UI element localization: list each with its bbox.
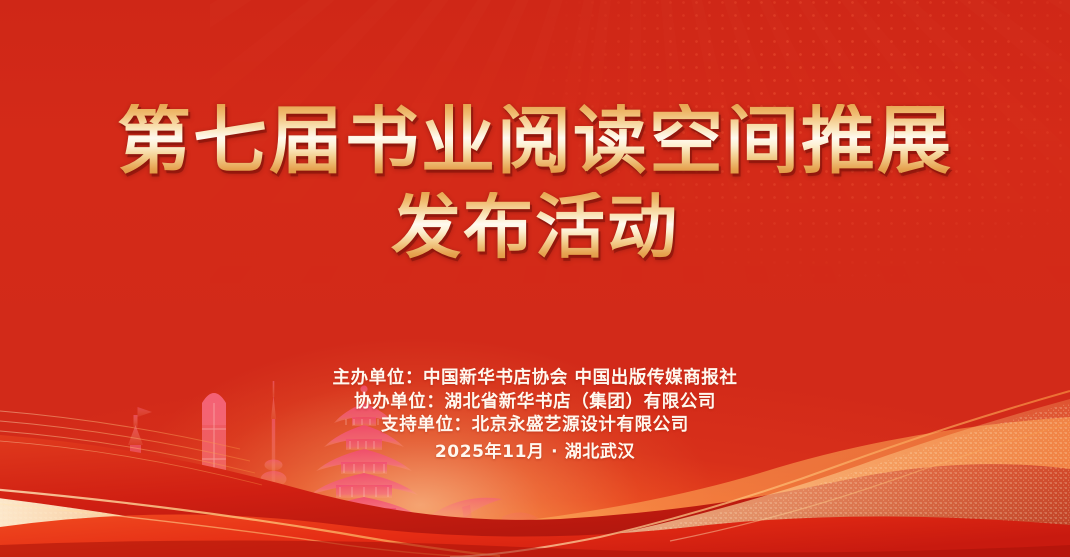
background-top-red-wash xyxy=(0,0,1070,557)
event-banner: 第七届书业阅读空间推展 发布活动 主办单位：中国新华书店协会 中国出版传媒商报社… xyxy=(0,0,1070,557)
